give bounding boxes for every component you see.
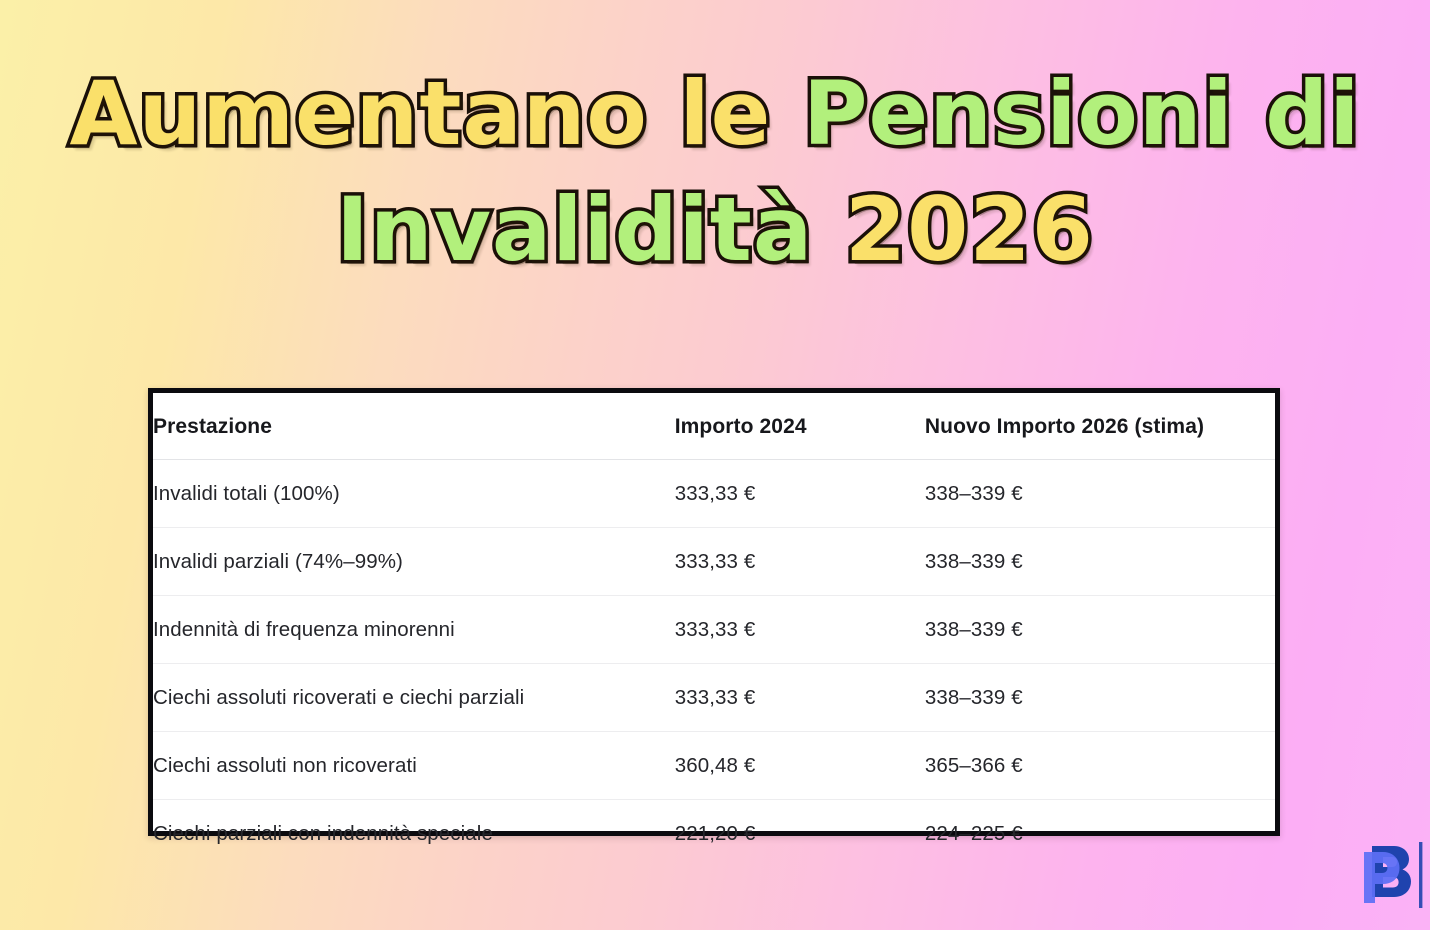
- poster-canvas: Aumentano le Pensioni di Invalidità 2026…: [0, 0, 1430, 930]
- page-title: Aumentano le Pensioni di Invalidità 2026: [0, 58, 1430, 286]
- pb-logo-icon: [1346, 838, 1424, 912]
- title-segment-green-2: Invalidità: [336, 178, 845, 281]
- table-row: Ciechi assoluti non ricoverati 360,48 € …: [153, 732, 1275, 800]
- cell-importo-2026: 365–366 €: [925, 732, 1275, 800]
- cell-importo-2026: 338–339 €: [925, 460, 1275, 528]
- cell-importo-2024: 333,33 €: [675, 664, 925, 732]
- table-row: Invalidi totali (100%) 333,33 € 338–339 …: [153, 460, 1275, 528]
- table-body: Invalidi totali (100%) 333,33 € 338–339 …: [153, 460, 1275, 868]
- title-line-2: Invalidità 2026: [0, 174, 1430, 286]
- cell-importo-2024: 333,33 €: [675, 528, 925, 596]
- title-segment-green-1: Pensioni di: [803, 62, 1360, 165]
- cell-prestazione: Indennità di frequenza minorenni: [153, 596, 675, 664]
- table-row: Ciechi parziali con indennità speciale 2…: [153, 800, 1275, 868]
- table-header-row: Prestazione Importo 2024 Nuovo Importo 2…: [153, 393, 1275, 460]
- cell-importo-2024: 333,33 €: [675, 596, 925, 664]
- cell-importo-2026: 338–339 €: [925, 664, 1275, 732]
- column-header-nuovo-importo-2026: Nuovo Importo 2026 (stima): [925, 393, 1275, 460]
- column-header-prestazione: Prestazione: [153, 393, 675, 460]
- cell-importo-2026: 338–339 €: [925, 528, 1275, 596]
- cell-importo-2026: 338–339 €: [925, 596, 1275, 664]
- column-header-importo-2024: Importo 2024: [675, 393, 925, 460]
- table-row: Indennità di frequenza minorenni 333,33 …: [153, 596, 1275, 664]
- cell-importo-2024: 360,48 €: [675, 732, 925, 800]
- table-row: Ciechi assoluti ricoverati e ciechi parz…: [153, 664, 1275, 732]
- pension-amounts-table-card: Prestazione Importo 2024 Nuovo Importo 2…: [148, 388, 1280, 836]
- cell-prestazione: Ciechi assoluti non ricoverati: [153, 732, 675, 800]
- cell-prestazione: Invalidi parziali (74%–99%): [153, 528, 675, 596]
- title-segment-yellow-2: 2026: [845, 178, 1094, 281]
- table-row: Invalidi parziali (74%–99%) 333,33 € 338…: [153, 528, 1275, 596]
- cell-prestazione: Ciechi assoluti ricoverati e ciechi parz…: [153, 664, 675, 732]
- cell-prestazione: Invalidi totali (100%): [153, 460, 675, 528]
- title-line-1: Aumentano le Pensioni di: [0, 58, 1430, 170]
- table-header: Prestazione Importo 2024 Nuovo Importo 2…: [153, 393, 1275, 460]
- title-segment-yellow-1: Aumentano le: [70, 62, 803, 165]
- cell-importo-2024: 221,20 €: [675, 800, 925, 868]
- cell-importo-2024: 333,33 €: [675, 460, 925, 528]
- cell-prestazione: Ciechi parziali con indennità speciale: [153, 800, 675, 868]
- pension-amounts-table: Prestazione Importo 2024 Nuovo Importo 2…: [153, 393, 1275, 867]
- cell-importo-2026: 224–225 €: [925, 800, 1275, 868]
- logo-accent-bar: [1419, 842, 1422, 908]
